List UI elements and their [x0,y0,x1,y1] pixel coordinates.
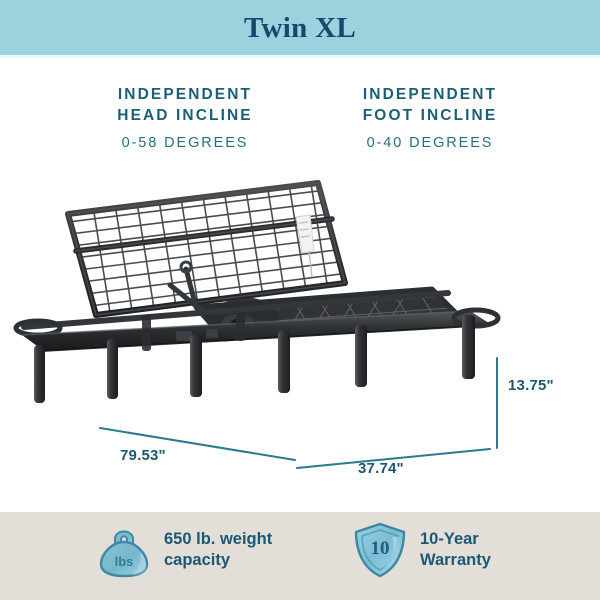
product-image-bed-frame [0,165,600,405]
header-underline [0,55,600,58]
badge-weight-line2: capacity [164,550,272,571]
header-bar: Twin XL [0,0,600,55]
infographic-page: Twin XL INDEPENDENT HEAD INCLINE 0-58 DE… [0,0,600,600]
badge-warranty: 10 10-Year Warranty [352,521,491,579]
badge-weight-capacity: lbs 650 lb. weight capacity [96,521,272,579]
feature-foot-title-line1: INDEPENDENT [310,84,550,105]
badge-weight-text: 650 lb. weight capacity [164,529,272,571]
dimension-label-width: 37.74" [358,460,404,477]
badge-warranty-text: 10-Year Warranty [420,529,491,571]
badge-warranty-line1: 10-Year [420,530,479,548]
feature-head-title-line2: HEAD INCLINE [65,105,305,126]
dimension-label-height: 13.75" [508,377,554,394]
feature-foot-incline: INDEPENDENT FOOT INCLINE 0-40 DEGREES [310,84,550,151]
footer-bar [0,512,600,600]
page-title: Twin XL [244,14,356,43]
feature-head-incline: INDEPENDENT HEAD INCLINE 0-58 DEGREES [65,84,305,151]
dimension-label-length: 79.53" [120,447,166,464]
feature-head-value: 0-58 DEGREES [65,135,305,151]
shield-icon: 10 [352,521,408,579]
feature-foot-title-line2: FOOT INCLINE [310,105,550,126]
feature-foot-value: 0-40 DEGREES [310,135,550,151]
feature-head-title-line1: INDEPENDENT [65,84,305,105]
badge-warranty-line2: Warranty [420,550,491,571]
badge-weight-line1: 650 lb. weight [164,530,272,548]
kettlebell-icon-label: lbs [115,554,134,569]
kettlebell-icon: lbs [96,521,152,579]
shield-icon-label: 10 [371,538,390,559]
